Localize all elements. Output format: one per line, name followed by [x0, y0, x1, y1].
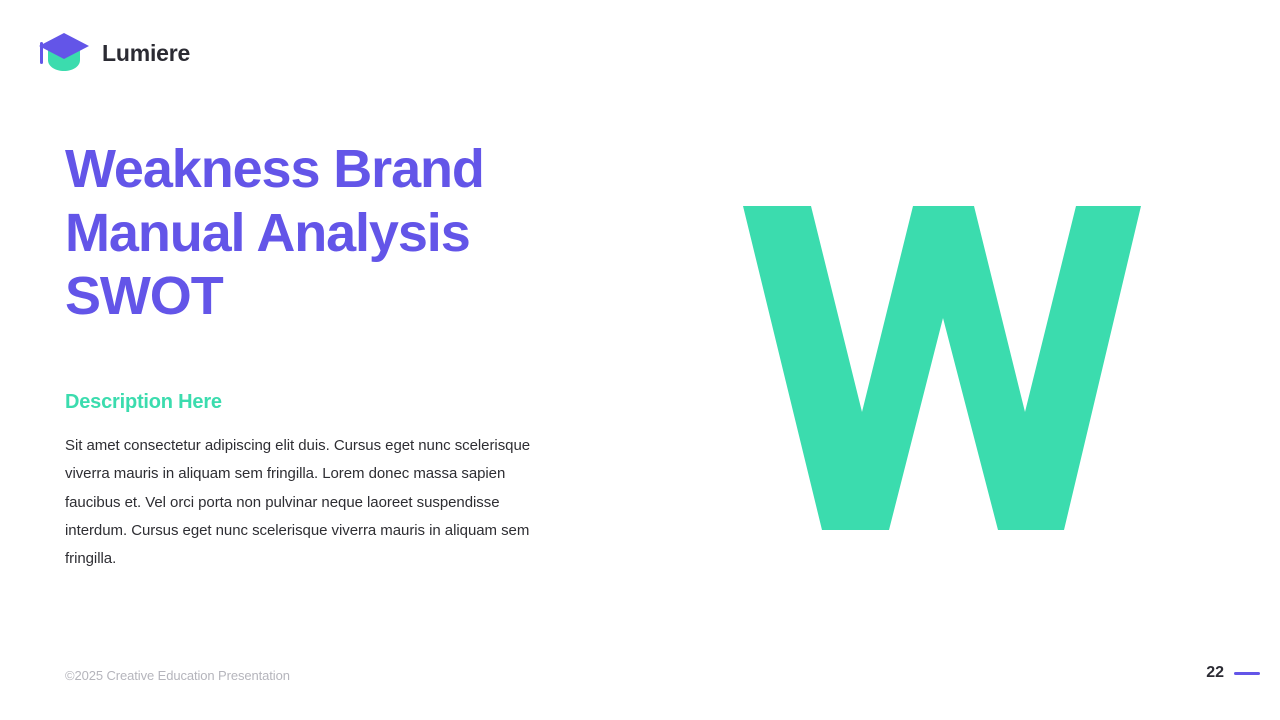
- footer-copyright: ©2025 Creative Education Presentation: [65, 668, 290, 683]
- footer-page-indicator: 22: [1206, 665, 1260, 681]
- page-rule: [1234, 672, 1260, 675]
- slide-content: Weakness Brand Manual Analysis SWOT Desc…: [65, 138, 565, 588]
- page-title: Weakness Brand Manual Analysis SWOT: [65, 138, 565, 329]
- page-number: 22: [1206, 665, 1224, 681]
- decorative-artwork: [640, 90, 1240, 610]
- description-heading: Description Here: [65, 391, 565, 414]
- description-body: Sit amet consectetur adipiscing elit dui…: [65, 432, 543, 573]
- graduation-cap-icon: [36, 30, 90, 76]
- presentation-slide: Lumiere Weakness Brand Manual Analysis S…: [0, 0, 1280, 720]
- brand-name: Lumiere: [102, 42, 190, 65]
- brand-logo[interactable]: Lumiere: [36, 30, 190, 76]
- letter-w-graphic: [640, 90, 1240, 610]
